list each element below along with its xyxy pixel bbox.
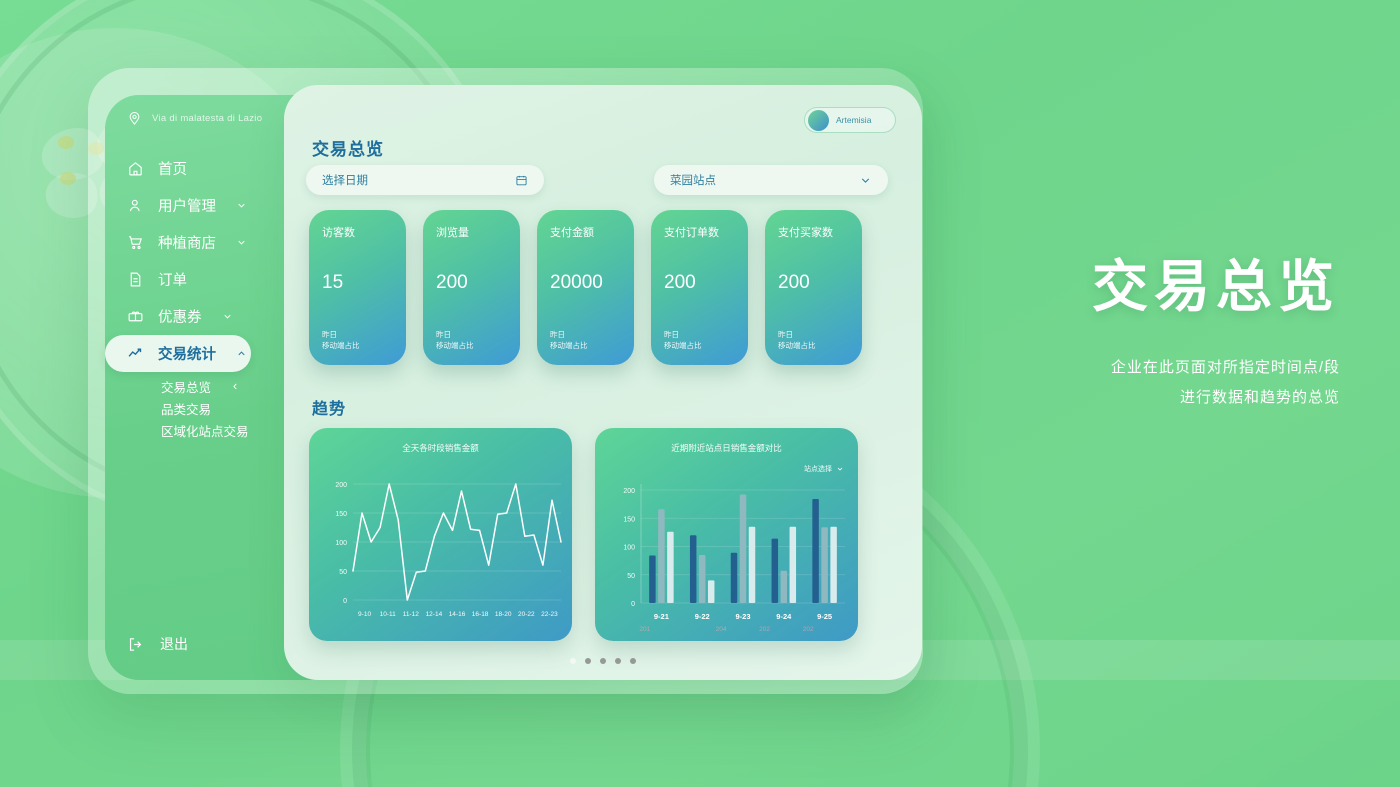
main-content: Artemisia 交易总览 选择日期 菜园站点 访客数 15 昨日 移动端占比 — [284, 85, 922, 680]
chevron-down-icon[interactable] — [222, 311, 233, 322]
svg-text:50: 50 — [627, 573, 635, 580]
svg-text:0: 0 — [631, 601, 635, 608]
pagination-dot[interactable] — [585, 658, 591, 664]
stat-card-value: 15 — [322, 272, 343, 294]
decor-petal-center-1 — [58, 136, 74, 149]
stat-card-foot-line2: 移动端占比 — [436, 340, 474, 351]
section-title-trend: 趋势 — [312, 395, 346, 419]
stat-card-value: 200 — [778, 272, 810, 294]
svg-text:11-12: 11-12 — [403, 611, 420, 618]
line-chart-plot: 0501001502009-1010-1111-1212-1414-1616-1… — [309, 428, 572, 641]
logout-icon — [127, 636, 144, 653]
svg-text:18-20: 18-20 — [495, 611, 512, 618]
stat-card-foot-line1: 昨日 — [550, 329, 588, 340]
stat-card-foot-line1: 昨日 — [778, 329, 816, 340]
logout-label: 退出 — [160, 634, 188, 654]
stat-card-value: 20000 — [550, 272, 603, 294]
decor-petal-center-3 — [60, 172, 76, 185]
pagination-dot[interactable] — [570, 658, 576, 664]
chevron-left-icon: ‹ — [233, 379, 237, 393]
sidebar-subitem-label: 交易总览 — [161, 377, 211, 396]
sidebar-item-label: 种植商店 — [158, 232, 216, 253]
stat-card-footer: 昨日 移动端占比 — [322, 329, 360, 351]
logout-button[interactable]: 退出 — [127, 634, 188, 654]
svg-text:10-11: 10-11 — [380, 611, 397, 618]
stat-card-foot-line1: 昨日 — [322, 329, 360, 340]
sidebar-item-transaction-statistics[interactable]: 交易统计 — [105, 335, 251, 372]
filter-bar: 选择日期 菜园站点 — [306, 165, 902, 195]
svg-text:150: 150 — [335, 511, 347, 518]
chevron-up-icon[interactable] — [236, 348, 247, 359]
stat-card[interactable]: 支付金额 20000 昨日 移动端占比 — [537, 210, 634, 365]
svg-text:9-23: 9-23 — [735, 612, 750, 621]
file-icon — [127, 271, 144, 288]
sidebar-item-label: 订单 — [158, 269, 187, 290]
promo-subtitle-line2: 进行数据和趋势的总览 — [1000, 383, 1340, 413]
pagination-dot[interactable] — [615, 658, 621, 664]
chevron-down-icon[interactable] — [859, 174, 872, 187]
stat-card-title: 浏览量 — [436, 224, 509, 240]
page-title: 交易总览 — [312, 135, 384, 160]
svg-text:9-10: 9-10 — [358, 611, 371, 618]
stat-card-title: 支付金额 — [550, 224, 623, 240]
bar-chart-footer-label: 202 — [803, 626, 814, 633]
svg-text:14-16: 14-16 — [449, 611, 466, 618]
svg-text:12-14: 12-14 — [426, 611, 443, 618]
svg-text:100: 100 — [335, 540, 347, 547]
stat-card-footer: 昨日 移动端占比 — [664, 329, 702, 351]
svg-text:16-18: 16-18 — [472, 611, 489, 618]
stat-card-footer: 昨日 移动端占比 — [778, 329, 816, 351]
sidebar-item-label: 交易统计 — [158, 343, 216, 364]
users-icon — [127, 197, 144, 214]
bar-chart-footer-label: 204 — [716, 626, 727, 633]
sidebar-subitem-label: 品类交易 — [161, 399, 211, 418]
bar-chart-footer-label: 201 — [639, 626, 650, 633]
bar-chart-footer-label: 202 — [759, 626, 770, 633]
stat-card-title: 支付订单数 — [664, 224, 737, 240]
trend-up-icon — [127, 345, 144, 362]
stat-card-foot-line2: 移动端占比 — [778, 340, 816, 351]
chevron-down-icon[interactable] — [236, 237, 247, 248]
stat-card-title: 支付买家数 — [778, 224, 851, 240]
svg-text:9-24: 9-24 — [776, 612, 792, 621]
stat-card[interactable]: 浏览量 200 昨日 移动端占比 — [423, 210, 520, 365]
home-icon — [127, 160, 144, 177]
site-select[interactable]: 菜园站点 — [654, 165, 888, 195]
promo-subtitle-line1: 企业在此页面对所指定时间点/段 — [1000, 353, 1340, 383]
svg-text:9-22: 9-22 — [695, 612, 710, 621]
sidebar-location-label: Via di malatesta di Lazio — [152, 113, 262, 124]
svg-text:50: 50 — [339, 569, 347, 576]
avatar — [808, 110, 829, 131]
stat-card-title: 访客数 — [322, 224, 395, 240]
chevron-down-icon[interactable] — [236, 200, 247, 211]
svg-text:22-23: 22-23 — [541, 611, 558, 618]
stat-card-list: 访客数 15 昨日 移动端占比 浏览量 200 昨日 移动端占比 支付金额 20… — [309, 210, 862, 365]
pagination-dot[interactable] — [600, 658, 606, 664]
sidebar-item-label: 首页 — [158, 158, 187, 179]
date-picker-value: 选择日期 — [322, 172, 368, 188]
promo-title: 交易总览 — [1000, 255, 1340, 319]
site-select-value: 菜园站点 — [670, 172, 716, 188]
svg-text:200: 200 — [335, 482, 347, 489]
stat-card-footer: 昨日 移动端占比 — [436, 329, 474, 351]
sidebar-subitem-label: 区域化站点交易 — [161, 421, 249, 440]
pagination-dots[interactable] — [284, 658, 922, 664]
stat-card[interactable]: 访客数 15 昨日 移动端占比 — [309, 210, 406, 365]
sidebar-item-label: 用户管理 — [158, 195, 216, 216]
stat-card-foot-line1: 昨日 — [436, 329, 474, 340]
bar-chart-card[interactable]: 近期附近站点日销售金额对比 站点选择 0501001502009-219-229… — [595, 428, 858, 641]
stat-card-foot-line2: 移动端占比 — [322, 340, 360, 351]
svg-text:200: 200 — [623, 488, 635, 495]
svg-text:150: 150 — [623, 516, 635, 523]
stat-card-foot-line1: 昨日 — [664, 329, 702, 340]
bar-chart-plot: 0501001502009-219-229-239-249-25 — [595, 428, 858, 641]
stat-card-value: 200 — [436, 272, 468, 294]
cart-icon — [127, 234, 144, 251]
promo-subtitle: 企业在此页面对所指定时间点/段 进行数据和趋势的总览 — [1000, 353, 1340, 413]
stat-card-foot-line2: 移动端占比 — [664, 340, 702, 351]
line-chart-card[interactable]: 全天各时段销售金额 0501001502009-1010-1111-1212-1… — [309, 428, 572, 641]
date-picker[interactable]: 选择日期 — [306, 165, 544, 195]
stat-card[interactable]: 支付买家数 200 昨日 移动端占比 — [765, 210, 862, 365]
svg-text:9-25: 9-25 — [817, 612, 832, 621]
stat-card-value: 200 — [664, 272, 696, 294]
chart-list: 全天各时段销售金额 0501001502009-1010-1111-1212-1… — [309, 428, 858, 641]
stat-card[interactable]: 支付订单数 200 昨日 移动端占比 — [651, 210, 748, 365]
stat-card-foot-line2: 移动端占比 — [550, 340, 588, 351]
bar-chart-footer-labels: 201204202202 — [595, 626, 858, 633]
calendar-icon[interactable] — [515, 174, 528, 187]
svg-text:9-21: 9-21 — [654, 612, 669, 621]
map-pin-icon — [127, 111, 142, 126]
user-badge[interactable]: Artemisia — [804, 107, 896, 133]
ticket-icon — [127, 308, 144, 325]
stat-card-footer: 昨日 移动端占比 — [550, 329, 588, 351]
sidebar-item-label: 优惠券 — [158, 306, 202, 327]
svg-text:20-22: 20-22 — [518, 611, 535, 618]
user-name: Artemisia — [836, 115, 871, 125]
pagination-dot[interactable] — [630, 658, 636, 664]
svg-text:100: 100 — [623, 545, 635, 552]
promo-panel: 交易总览 企业在此页面对所指定时间点/段 进行数据和趋势的总览 — [1000, 255, 1340, 413]
svg-text:0: 0 — [343, 598, 347, 605]
